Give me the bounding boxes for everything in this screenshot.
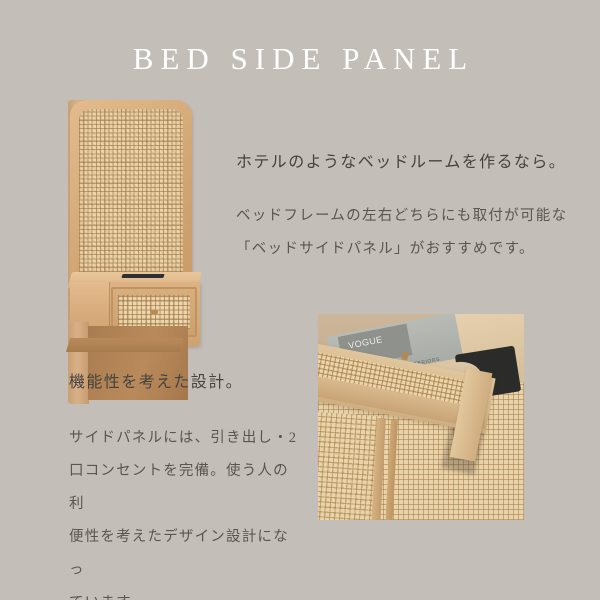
left-heading: 機能性を考えた設計。 xyxy=(69,370,319,396)
right-body-line-1: ベッドフレームの左右どちらにも取付が可能な xyxy=(236,200,582,233)
left-body-line-3: 便性を考えたデザイン設計になっ xyxy=(69,521,301,587)
right-body-line-2: 「ベッドサイドパネル」がおすすめです。 xyxy=(236,233,582,266)
product-photo-full xyxy=(46,86,212,326)
right-body-text: ベッドフレームの左右どちらにも取付が可能な 「ベッドサイドパネル」がおすすめです… xyxy=(236,200,582,266)
left-body-line-2: 口コンセントを完備。使う人の利 xyxy=(69,455,301,521)
left-body-line-1: サイドパネルには、引き出し・2 xyxy=(69,422,301,455)
lead-line: ホテルのようなベッドルームを作るなら。 xyxy=(236,150,586,176)
product-photo-detail: VOGUE WORLD OF INTERIORS xyxy=(318,314,524,520)
cane-headboard-frame xyxy=(70,100,192,276)
product-feature-panel: BED SIDE PANEL ホテルのようなベッドルームを作るなら。 ベッドフレ… xyxy=(0,0,600,600)
page-title: BED SIDE PANEL xyxy=(0,42,600,76)
carcass-underside xyxy=(66,338,184,352)
left-body-text: サイドパネルには、引き出し・2 口コンセントを完備。使う人の利 便性を考えたデザ… xyxy=(69,422,301,600)
lead-text: ホテルのようなベッドルームを作るなら。 xyxy=(236,150,586,176)
power-outlet-icon xyxy=(121,274,164,278)
cane-mesh-texture xyxy=(79,109,183,272)
left-body-line-4: ています。 xyxy=(69,587,301,600)
drawer-knob-icon xyxy=(151,310,158,314)
